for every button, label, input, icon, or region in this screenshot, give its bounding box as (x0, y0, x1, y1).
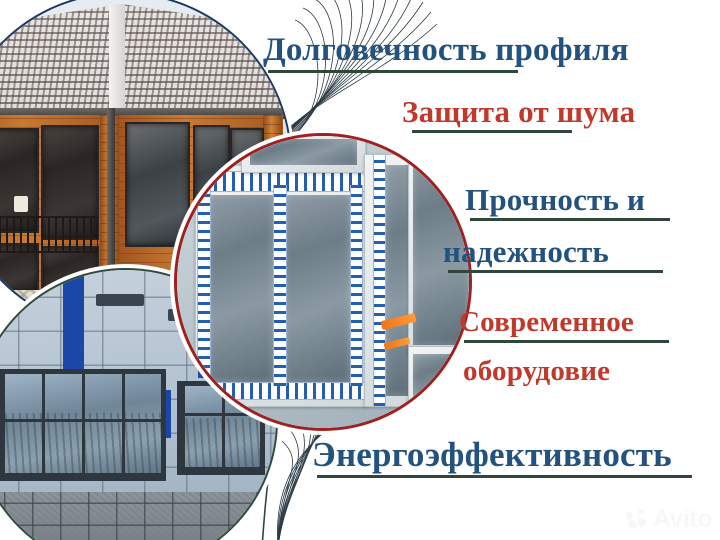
avito-watermark: Avito (626, 505, 712, 534)
storefront-glazing (0, 369, 166, 481)
headline-underline (448, 270, 663, 273)
avito-wordmark: Avito (653, 505, 712, 534)
headline-underline (470, 218, 670, 221)
poster-canvas: Долговечность профиля Защита от шума Про… (0, 0, 720, 540)
headline-underline (412, 130, 572, 133)
headline-reliability: надежность (443, 236, 663, 273)
balcony-railing (0, 216, 98, 254)
headline-text: Современное (459, 308, 669, 337)
headline-underline (317, 475, 692, 478)
headline-equipment: оборудовие (463, 357, 610, 392)
roof-ridge (109, 4, 126, 115)
headline-underline (268, 70, 518, 73)
stone-plinth (0, 492, 276, 540)
facade-vent (96, 294, 144, 306)
wall-lamp (14, 196, 27, 213)
veka-protective-tape (197, 185, 211, 386)
headline-text: оборудовие (463, 357, 610, 386)
headline-modern: Современное (459, 308, 669, 343)
headline-text: Прочность и (465, 184, 670, 215)
headline-underline (464, 340, 669, 343)
tree-reflection (2, 413, 161, 476)
headline-text: Энергоэффективность (312, 437, 692, 472)
headline-durability: Долговечность профиля (263, 34, 629, 73)
headline-list: Долговечность профиля Защита от шума Про… (250, 0, 720, 540)
headline-energy-efficiency: Энергоэффективность (312, 437, 692, 478)
headline-noise-protection: Защита от шума (402, 96, 635, 133)
headline-text: Долговечность профиля (263, 34, 629, 67)
avito-dots-icon (626, 509, 648, 531)
headline-strength: Прочность и (465, 184, 670, 221)
headline-text: надежность (443, 236, 663, 267)
headline-text: Защита от шума (402, 96, 635, 127)
